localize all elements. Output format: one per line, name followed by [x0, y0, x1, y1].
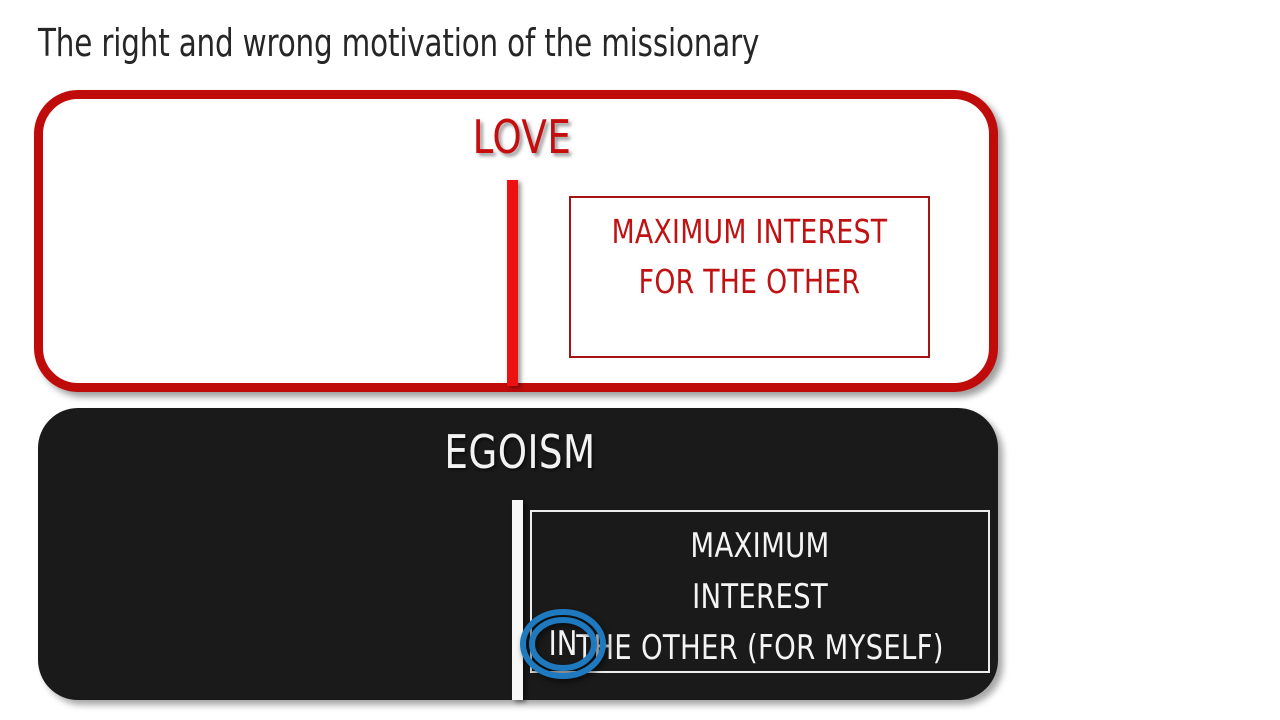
- egoism-inner-line-1: MAXIMUM: [555, 521, 965, 572]
- love-inner-text: MAXIMUM INTEREST FOR THE OTHER: [589, 207, 910, 307]
- love-inner-line-2: INTEREST: [755, 212, 887, 251]
- love-inner-box: MAXIMUM INTEREST FOR THE OTHER: [569, 196, 930, 358]
- love-divider-bar: [507, 180, 518, 386]
- slide-canvas: The right and wrong motivation of the mi…: [0, 0, 1280, 720]
- love-inner-line-1: MAXIMUM: [612, 212, 747, 251]
- egoism-inner-line-2: INTEREST: [555, 572, 965, 623]
- page-title: The right and wrong motivation of the mi…: [38, 20, 759, 66]
- love-inner-line-3: FOR THE OTHER: [639, 262, 861, 301]
- highlight-word-in: IN: [523, 607, 604, 681]
- egoism-divider-bar: [512, 500, 523, 700]
- egoism-inner-text: MAXIMUM INTEREST THE OTHER (FOR MYSELF): [555, 521, 965, 674]
- love-heading: LOVE: [441, 111, 603, 163]
- egoism-inner-line-3: THE OTHER (FOR MYSELF): [555, 623, 965, 674]
- egoism-heading: EGOISM: [435, 425, 606, 479]
